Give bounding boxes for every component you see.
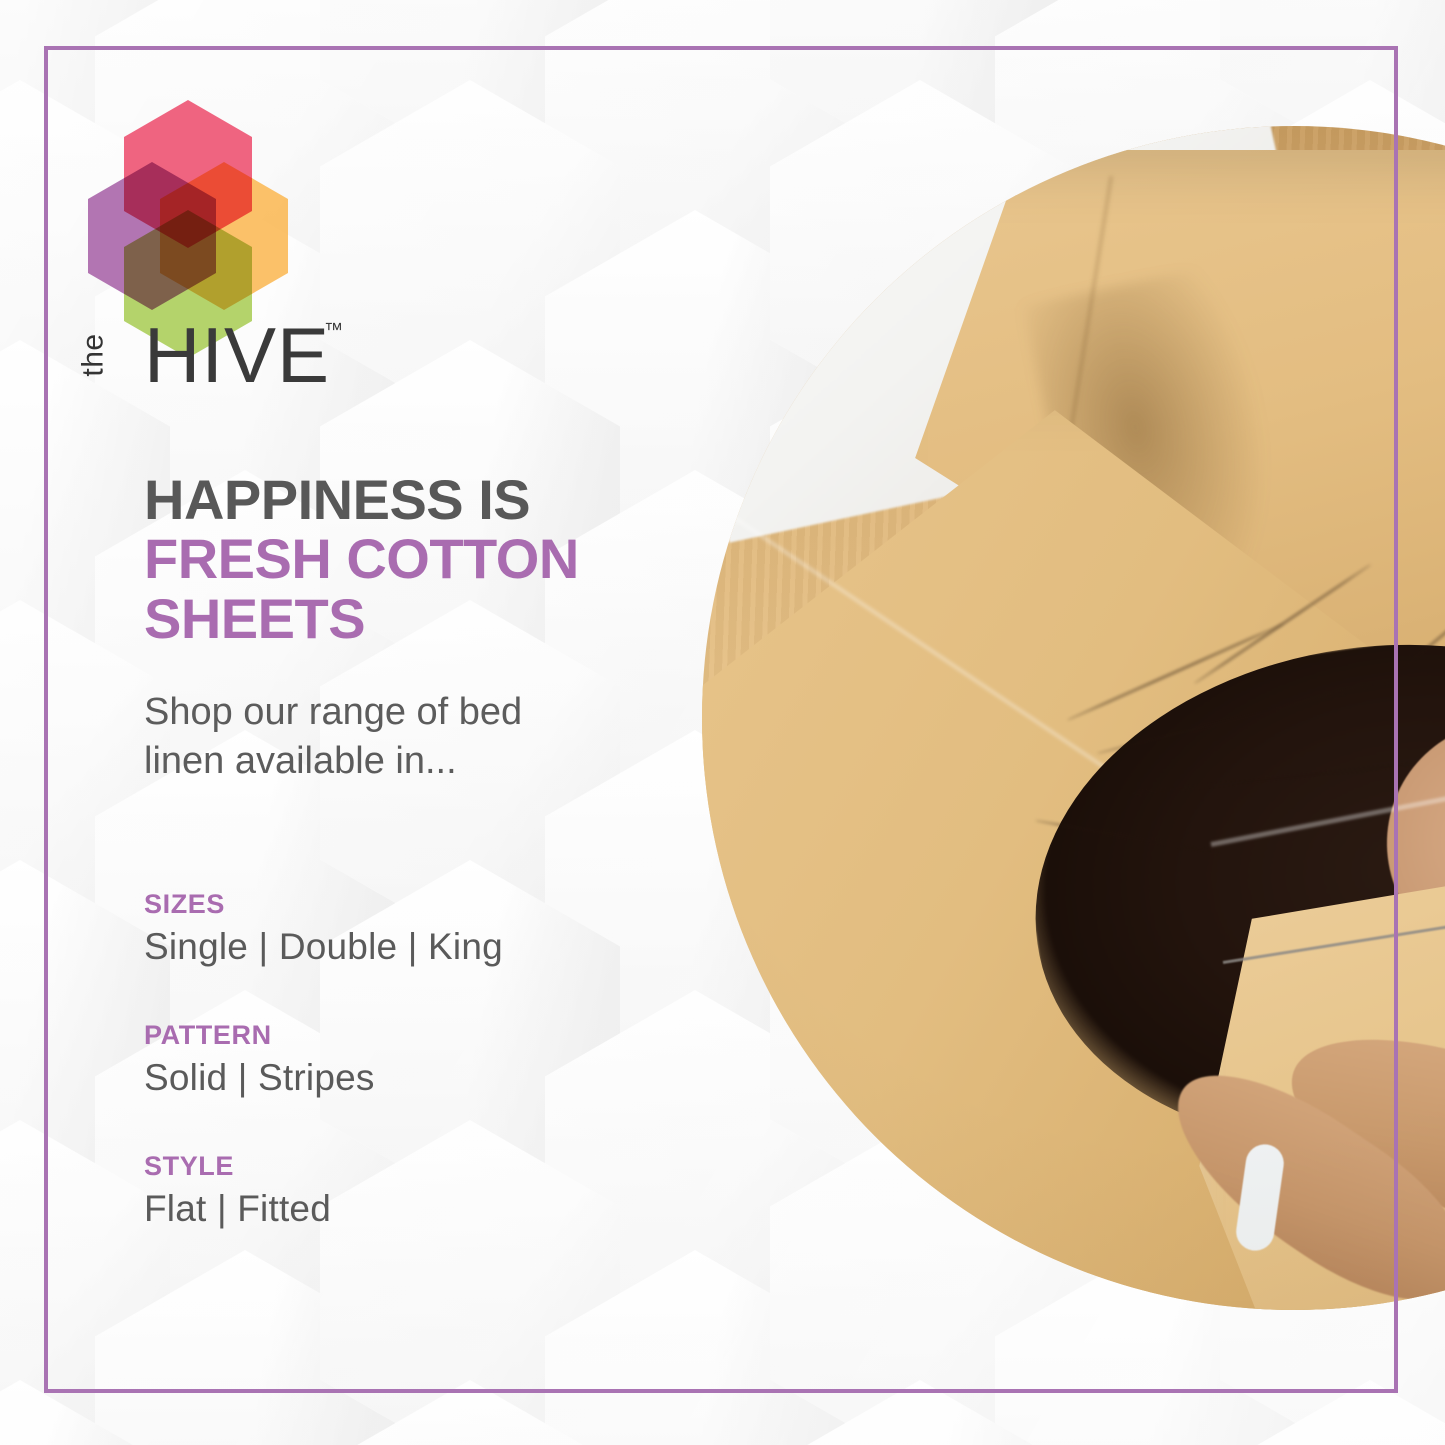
subcopy-line-1: Shop our range of bed xyxy=(144,691,522,733)
brand-logo: the HIVE ™ xyxy=(88,100,348,400)
headline-line-1: HAPPINESS IS xyxy=(144,470,704,529)
spec-label: PATTERN xyxy=(144,1020,704,1051)
spec-item-style: STYLE Flat | Fitted xyxy=(144,1151,704,1230)
subcopy-text: Shop our range of bed linen available in… xyxy=(144,688,564,785)
logo-hive-text: HIVE xyxy=(144,316,330,394)
spec-value: Solid | Stripes xyxy=(144,1057,704,1099)
headline-line-3: SHEETS xyxy=(144,589,704,648)
spec-list: SIZES Single | Double | King PATTERN Sol… xyxy=(144,889,704,1230)
logo-the-text: the xyxy=(77,333,111,376)
trademark-symbol: ™ xyxy=(324,320,343,342)
spec-value: Flat | Fitted xyxy=(144,1188,704,1230)
spec-item-sizes: SIZES Single | Double | King xyxy=(144,889,704,968)
hero-photo-illustration xyxy=(702,126,1445,1310)
spec-label: STYLE xyxy=(144,1151,704,1182)
spec-label: SIZES xyxy=(144,889,704,920)
hero-photo-circle xyxy=(702,126,1445,1310)
headline-line-2: FRESH COTTON xyxy=(144,529,704,588)
spec-value: Single | Double | King xyxy=(144,926,704,968)
hive-flower-logo-icon xyxy=(88,100,288,300)
spec-item-pattern: PATTERN Solid | Stripes xyxy=(144,1020,704,1099)
subcopy-line-2: linen available in... xyxy=(144,740,457,782)
page-title: HAPPINESS IS FRESH COTTON SHEETS xyxy=(144,470,704,648)
copy-column: HAPPINESS IS FRESH COTTON SHEETS Shop ou… xyxy=(144,470,704,1282)
advertisement-poster: the HIVE ™ HAPPINESS IS FRESH COTTON SHE… xyxy=(0,0,1445,1445)
brand-wordmark: the HIVE ™ xyxy=(88,316,348,400)
